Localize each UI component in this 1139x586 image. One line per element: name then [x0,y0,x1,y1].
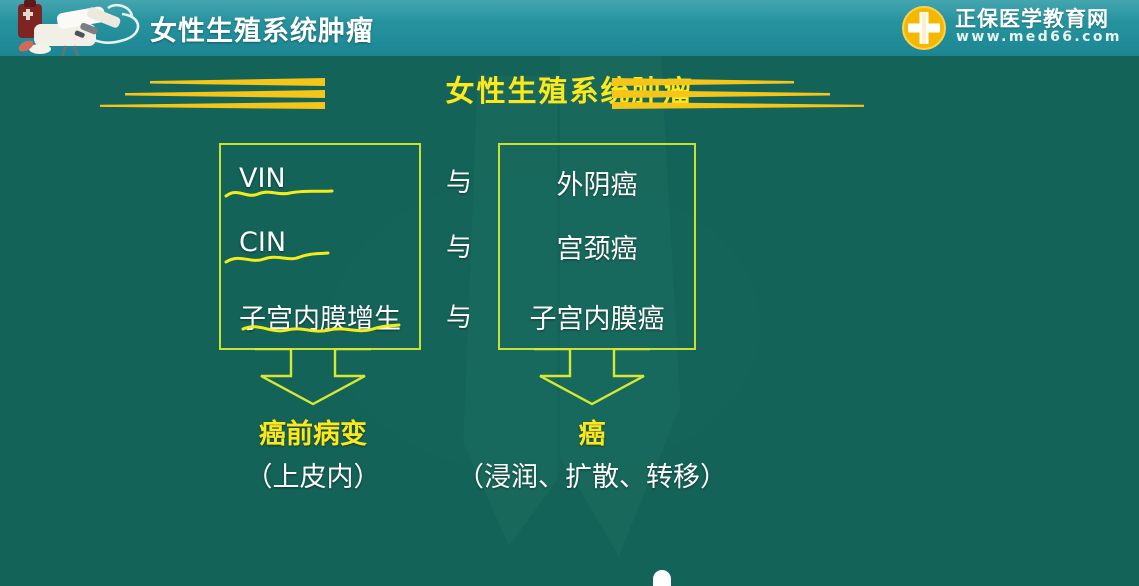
outcome-right-title: 癌 [472,412,712,451]
connector-yu-1: 与 [429,162,489,199]
cancer-item-cervical: 宫颈癌 [500,227,694,266]
precancer-item-endometrial-hyperplasia: 子宫内膜增生 [221,297,419,336]
outcome-right-subtitle: （浸润、扩散、转移） [452,455,732,494]
cancer-item-endometrial: 子宫内膜癌 [500,297,694,336]
down-arrow-outline-icon-right [524,348,660,406]
outcome-left-title: 癌前病变 [193,412,433,451]
precancer-item-cin: CIN [221,227,419,258]
cancer-box: 外阴癌 宫颈癌 子宫内膜癌 [498,143,696,350]
bottom-cursor-marker [653,570,671,586]
down-arrow-outline-icon-left [245,348,381,406]
concept-diagram: VIN CIN 子宫内膜增生 与 与 与 外阴癌 宫颈癌 子宫内膜癌 癌前病变 … [0,0,1139,578]
connector-yu-2: 与 [429,227,489,264]
precancer-box: VIN CIN 子宫内膜增生 [219,143,421,350]
outcome-left-subtitle: （上皮内） [193,455,433,494]
precancer-item-vin: VIN [221,163,419,194]
cancer-item-vulvar: 外阴癌 [500,163,694,202]
connector-yu-3: 与 [429,297,489,334]
